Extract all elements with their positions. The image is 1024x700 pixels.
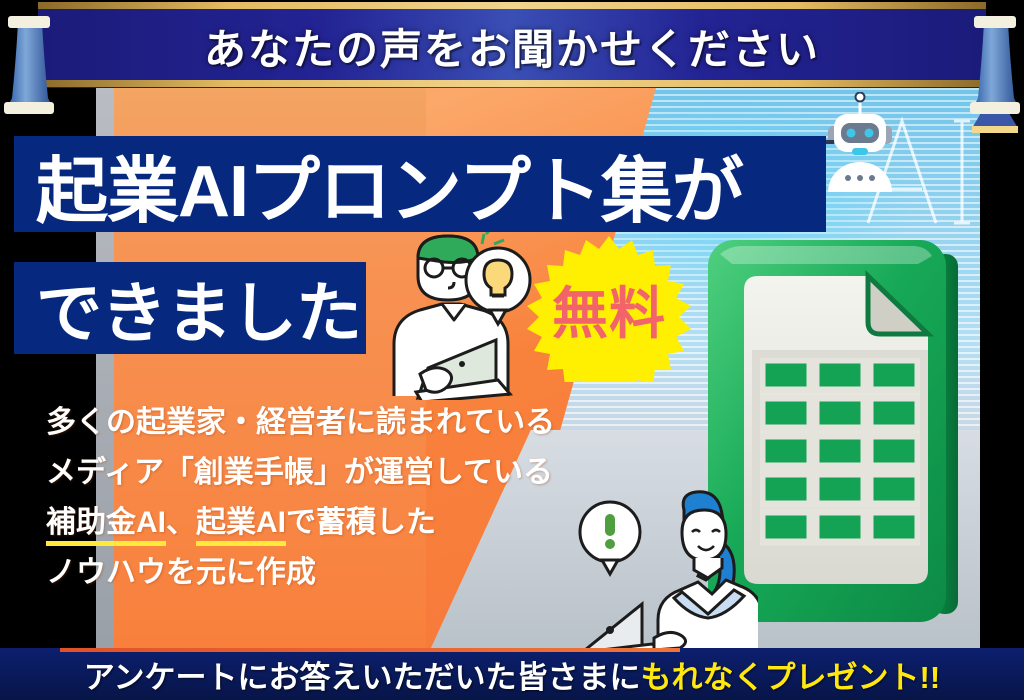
body-line-1: 多くの起業家・経営者に読まれている — [46, 398, 666, 448]
underlined-term-2: 起業AI — [196, 498, 286, 548]
body-line-4: ノウハウを元に作成 — [46, 548, 666, 598]
footer-text-yellow: もれなくプレゼント!! — [641, 652, 941, 697]
right-black-margin — [980, 88, 1024, 648]
body-copy: 多くの起業家・経営者に読まれている メディア「創業手帳」が運営している 補助金A… — [46, 398, 666, 598]
underlined-term-1-text: 補助金AI — [46, 506, 166, 539]
footer-text: アンケートにお答えいただいた皆さまにもれなくプレゼント!! — [0, 648, 1024, 700]
body-line-2: メディア「創業手帳」が運営している — [46, 448, 666, 498]
badge-label: 無料 — [518, 236, 700, 382]
header: あなたの声をお聞かせください — [0, 0, 1024, 92]
body-line-3: 補助金AI 、 起業AI で蓄積した — [46, 498, 666, 548]
body-line-3-tail: で蓄積した — [286, 506, 436, 539]
headline-line-1: 起業AIプロンプト集が — [36, 132, 743, 237]
man-with-laptop-illustration — [358, 228, 536, 400]
header-title: あなたの声をお聞かせください — [0, 0, 1024, 92]
robot-mascot-icon — [812, 92, 908, 196]
headline-line-2: できました — [36, 260, 361, 356]
underlined-term-1: 補助金AI — [46, 498, 166, 548]
underlined-term-2-text: 起業AI — [196, 506, 286, 539]
headline-block-2: できました — [14, 262, 366, 354]
headline-block-1: 起業AIプロンプト集が — [14, 136, 826, 232]
footer-text-white: アンケートにお答えいただいた皆さまに — [84, 652, 641, 697]
body-line-3-sep: 、 — [166, 506, 196, 539]
banner-root: 無料 起業AIプロンプト集が できました 多くの起業家・経営者に読まれている メ… — [0, 0, 1024, 700]
